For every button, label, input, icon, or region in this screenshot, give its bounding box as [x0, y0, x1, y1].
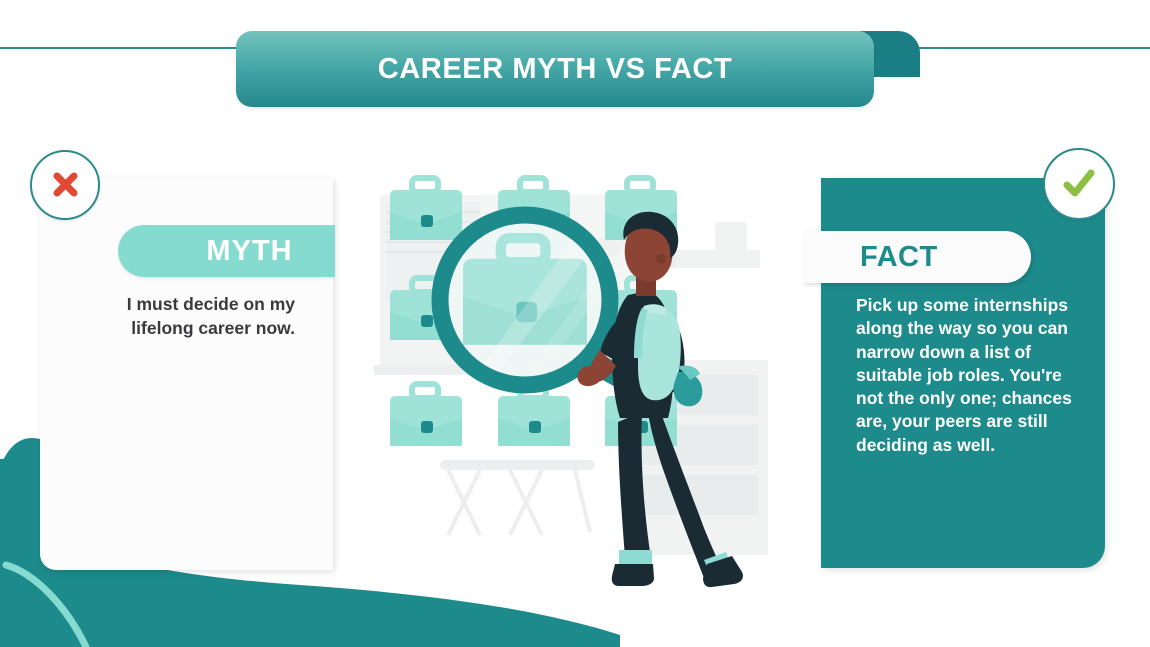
briefcase — [498, 384, 570, 446]
fact-body-text: Pick up some internships along the way s… — [856, 294, 1082, 457]
briefcase — [390, 384, 462, 446]
cross-icon — [48, 168, 82, 202]
myth-body-text: I must decide on my lifelong career now. — [118, 293, 295, 341]
page-title: CAREER MYTH VS FACT — [378, 53, 733, 86]
check-icon — [1060, 165, 1098, 203]
fact-pill-label: FACT — [803, 241, 938, 274]
career-illustration — [360, 160, 800, 600]
cross-badge — [30, 150, 100, 220]
stool — [440, 460, 595, 535]
fact-pill: FACT — [803, 231, 1031, 283]
myth-pill: MYTH — [118, 225, 335, 277]
check-badge — [1043, 148, 1115, 220]
slide-canvas: CAREER MYTH VS FACT — [0, 0, 1150, 647]
myth-pill-label: MYTH — [160, 235, 292, 268]
briefcase — [390, 178, 462, 240]
header-banner: CAREER MYTH VS FACT — [236, 31, 874, 107]
